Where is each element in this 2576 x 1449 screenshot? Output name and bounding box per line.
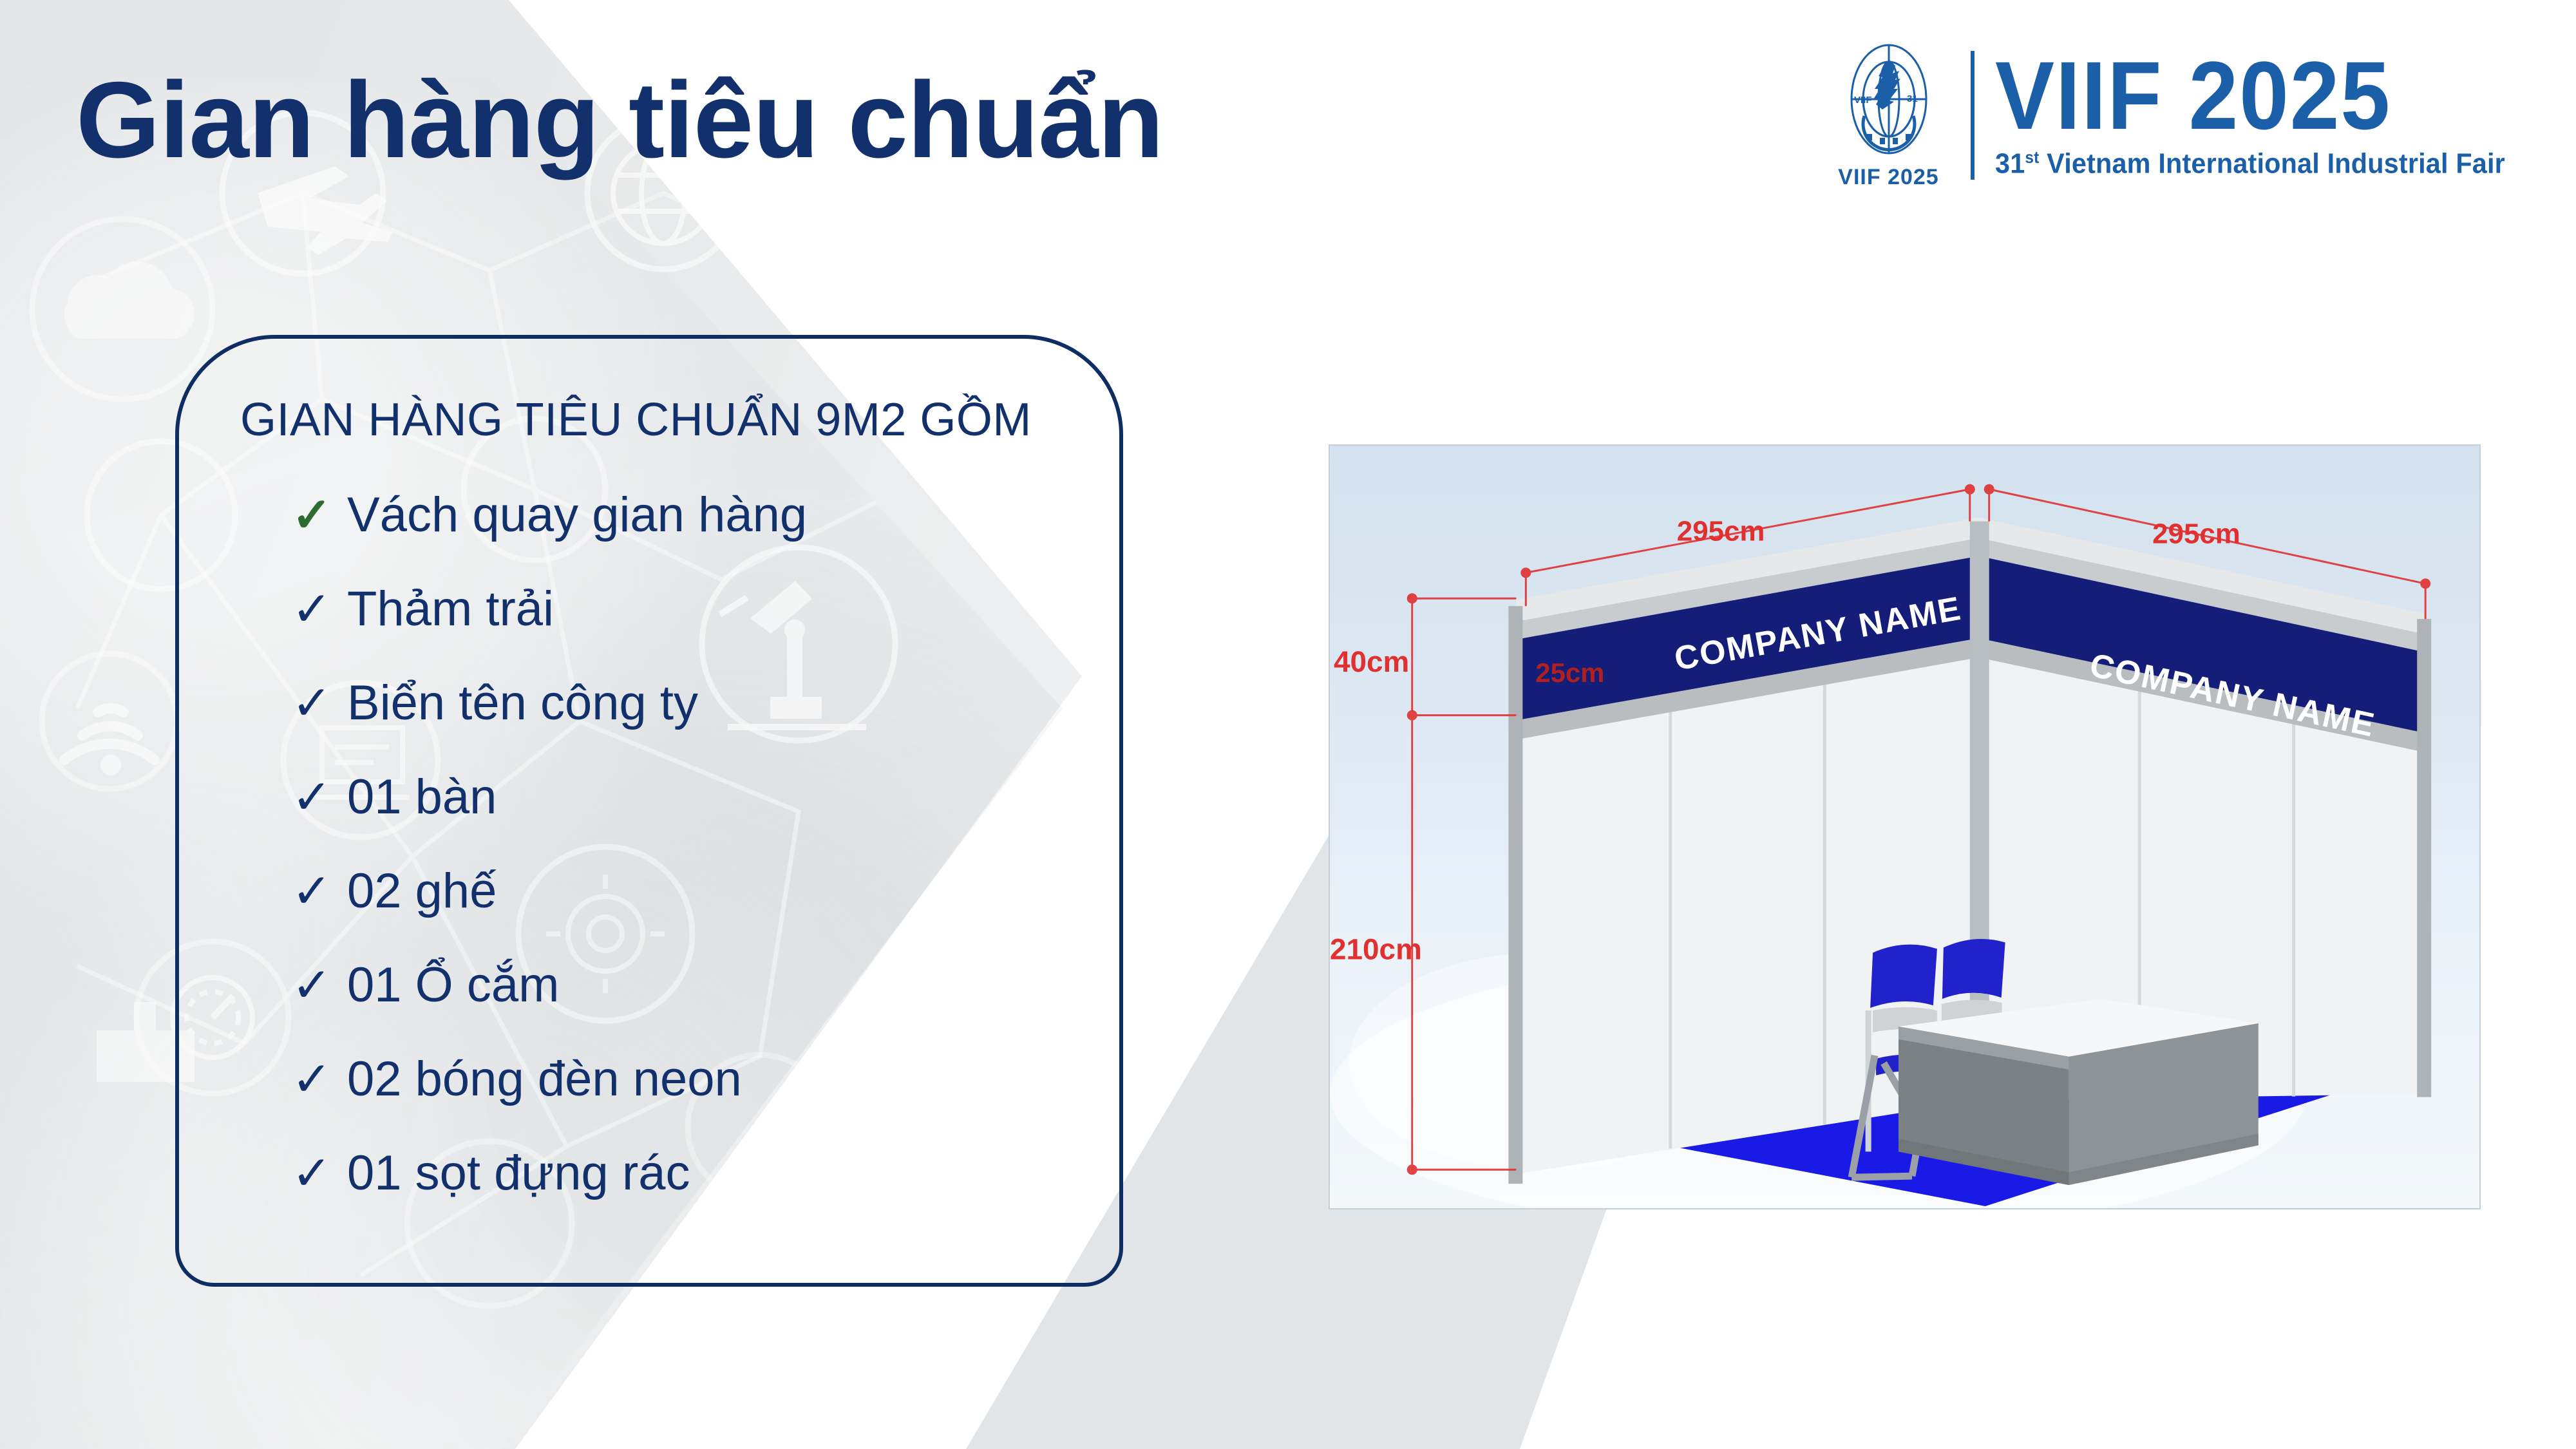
logo-subtitle-sup: st: [2025, 147, 2039, 167]
check-icon: ✓: [292, 491, 347, 539]
check-icon: ✓: [292, 1150, 347, 1197]
emblem-text-31: 31: [1907, 93, 1918, 104]
logo-subtitle-prefix: 31: [1995, 148, 2025, 180]
emblem-text-viif: VIIF: [1854, 95, 1872, 106]
list-item-label: Vách quay gian hàng: [347, 487, 807, 543]
list-item-label: Biển tên công ty: [347, 675, 698, 731]
card-heading: GIAN HÀNG TIÊU CHUẨN 9M2 GỒM: [240, 393, 1032, 446]
list-item-label: 02 ghế: [347, 863, 497, 919]
check-icon: ✓: [292, 1056, 347, 1103]
list-item-label: 02 bóng đèn neon: [347, 1051, 742, 1107]
check-icon: ✓: [292, 585, 347, 633]
dim-label-width-right: 295cm: [2152, 518, 2240, 550]
globe-gear-emblem-icon: VIIF 31: [1831, 40, 1947, 162]
viif-emblem: VIIF 31 VIIF 2025: [1828, 40, 1950, 190]
list-item-label: 01 Ổ cắm: [347, 957, 559, 1013]
right-corner-post: [2417, 619, 2431, 1097]
dim-label-wall-height: 210cm: [1330, 932, 1422, 965]
list-item: ✓ 02 bóng đèn neon: [292, 1051, 1097, 1145]
booth-illustration-panel: COMPANY NAME COMPANY NAME: [1329, 444, 2481, 1209]
logo-subtitle-rest: Vietnam International Industrial Fair: [2039, 148, 2505, 180]
list-item: ✓ 01 Ổ cắm: [292, 957, 1097, 1051]
inclusions-list: ✓ Vách quay gian hàng ✓ Thảm trải ✓ Biển…: [292, 487, 1097, 1239]
logo-wordmark: VIIF 2025 31st Vietnam International Ind…: [1995, 50, 2537, 180]
list-item: ✓ 01 sọt đựng rác: [292, 1145, 1097, 1239]
standard-booth-card: GIAN HÀNG TIÊU CHUẨN 9M2 GỒM ✓ Vách quay…: [175, 335, 1123, 1287]
list-item: ✓ Biển tên công ty: [292, 675, 1097, 769]
slide-root: Gian hàng tiêu chuẩn: [0, 0, 2576, 1449]
list-item-label: 01 sọt đựng rác: [347, 1145, 690, 1201]
dim-label-width-left: 295cm: [1677, 516, 1765, 547]
check-icon: ✓: [292, 679, 347, 727]
check-icon: ✓: [292, 867, 347, 915]
logo-main-text: VIIF 2025: [1995, 50, 2494, 142]
list-item-label: 01 bàn: [347, 769, 497, 825]
list-item: ✓ 01 bàn: [292, 769, 1097, 863]
list-item: ✓ Vách quay gian hàng: [292, 487, 1097, 581]
list-item: ✓ 02 ghế: [292, 863, 1097, 957]
dim-label-fascia-height: 40cm: [1334, 645, 1409, 678]
check-icon: ✓: [292, 773, 347, 821]
booth-3d-diagram: COMPANY NAME COMPANY NAME: [1330, 446, 2479, 1208]
list-item-label: Thảm trải: [347, 581, 554, 637]
check-icon: ✓: [292, 961, 347, 1009]
left-corner-post: [1508, 606, 1522, 1184]
logo-divider: [1971, 51, 1975, 180]
list-item: ✓ Thảm trải: [292, 581, 1097, 675]
logo-subtitle: 31st Vietnam International Industrial Fa…: [1995, 147, 2505, 180]
dim-label-fascia-band: 25cm: [1535, 658, 1604, 688]
emblem-caption: VIIF 2025: [1838, 165, 1938, 190]
chair-right: [1942, 939, 2005, 1023]
page-title: Gian hàng tiêu chuẩn: [76, 62, 1163, 178]
viif-logo: VIIF 31 VIIF 2025 VIIF 2025 31st Vietnam…: [1828, 40, 2537, 190]
